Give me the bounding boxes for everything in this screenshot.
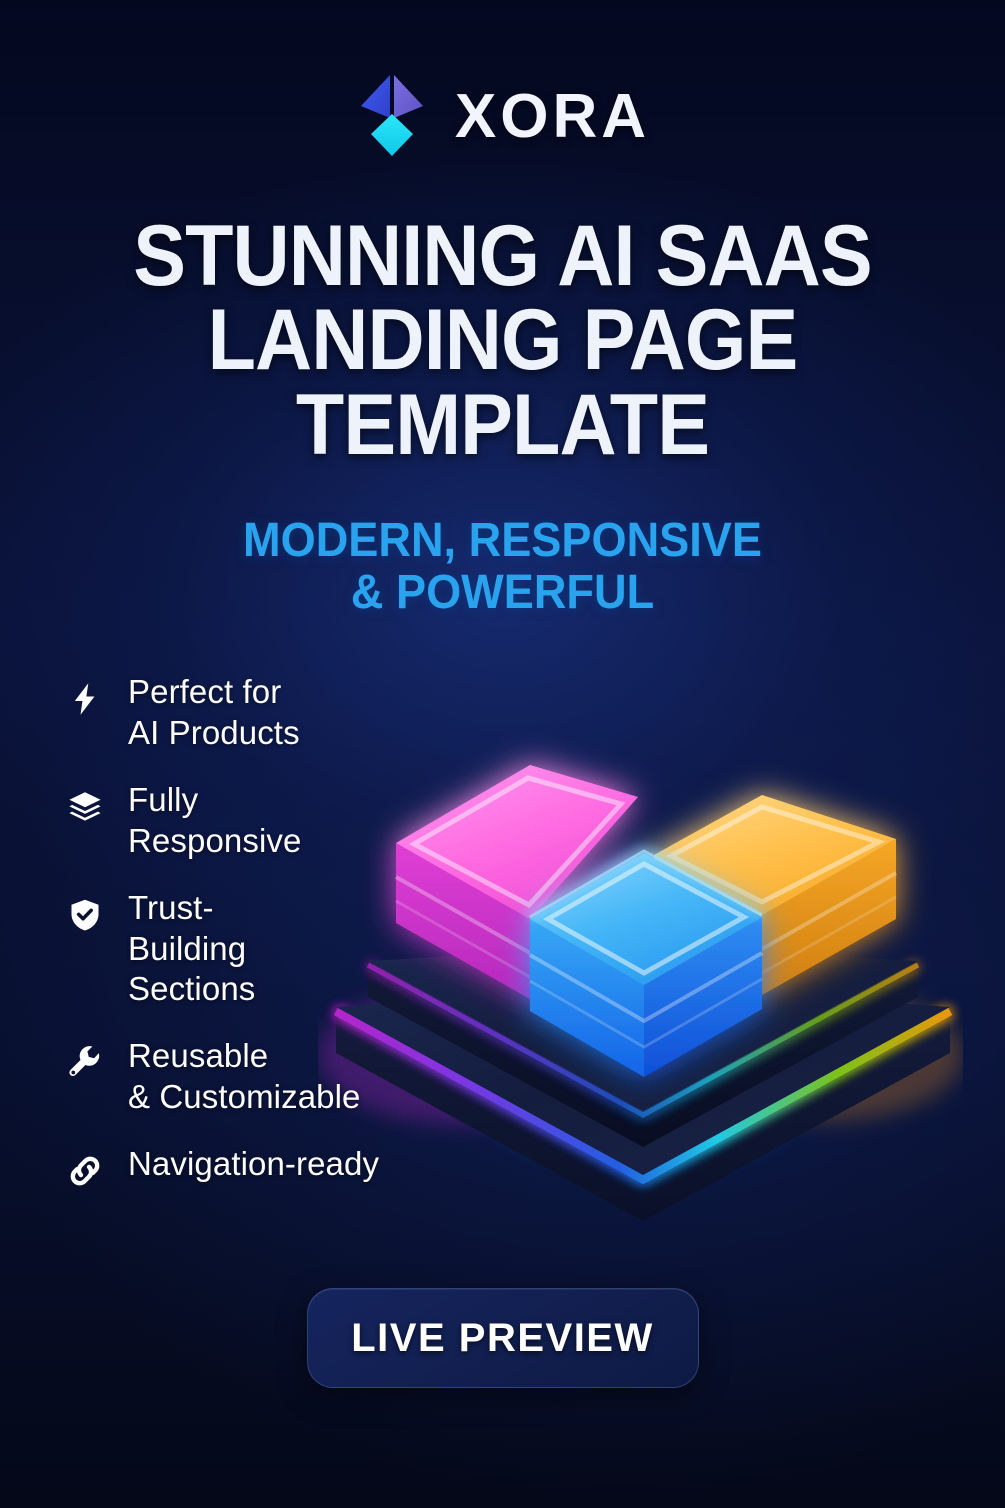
list-item-label: Reusable& Customizable [128, 1036, 361, 1118]
headline-line-1: STUNNING AI SAAS [40, 214, 965, 298]
list-item-label: FullyResponsive [128, 780, 301, 862]
list-item: Reusable& Customizable [62, 1036, 462, 1118]
list-item-label: Perfect forAI Products [128, 672, 300, 754]
brand-wordmark: XORA [455, 81, 650, 152]
live-preview-button-label: LIVE PREVIEW [351, 1316, 654, 1361]
subhead-line-1: MODERN, RESPONSIVE [30, 515, 975, 567]
page-subtitle: MODERN, RESPONSIVE & POWERFUL [30, 515, 975, 619]
layers-stack-icon [62, 784, 108, 830]
chain-link-icon [62, 1148, 108, 1194]
live-preview-button[interactable]: LIVE PREVIEW [307, 1288, 699, 1388]
headline-line-3: TEMPLATE [40, 383, 965, 467]
lightning-bolt-icon [62, 676, 108, 722]
wrench-icon [62, 1040, 108, 1086]
poster-canvas: XORA STUNNING AI SAAS LANDING PAGE TEMPL… [0, 0, 1005, 1508]
brand-logo-row: XORA [0, 72, 1005, 160]
subhead-line-2: & POWERFUL [30, 567, 975, 619]
feature-list: Perfect forAI Products FullyResponsive T… [62, 672, 462, 1194]
page-title: STUNNING AI SAAS LANDING PAGE TEMPLATE [40, 214, 965, 467]
list-item: FullyResponsive [62, 780, 462, 862]
shield-check-icon [62, 892, 108, 938]
list-item: Navigation-ready [62, 1144, 462, 1194]
headline-line-2: LANDING PAGE [40, 298, 965, 382]
list-item: Trust-BuildingSections [62, 888, 462, 1011]
list-item-label: Trust-BuildingSections [128, 888, 255, 1011]
list-item-label: Navigation-ready [128, 1144, 379, 1185]
diamond-prism-logo-icon [355, 72, 429, 160]
list-item: Perfect forAI Products [62, 672, 462, 754]
